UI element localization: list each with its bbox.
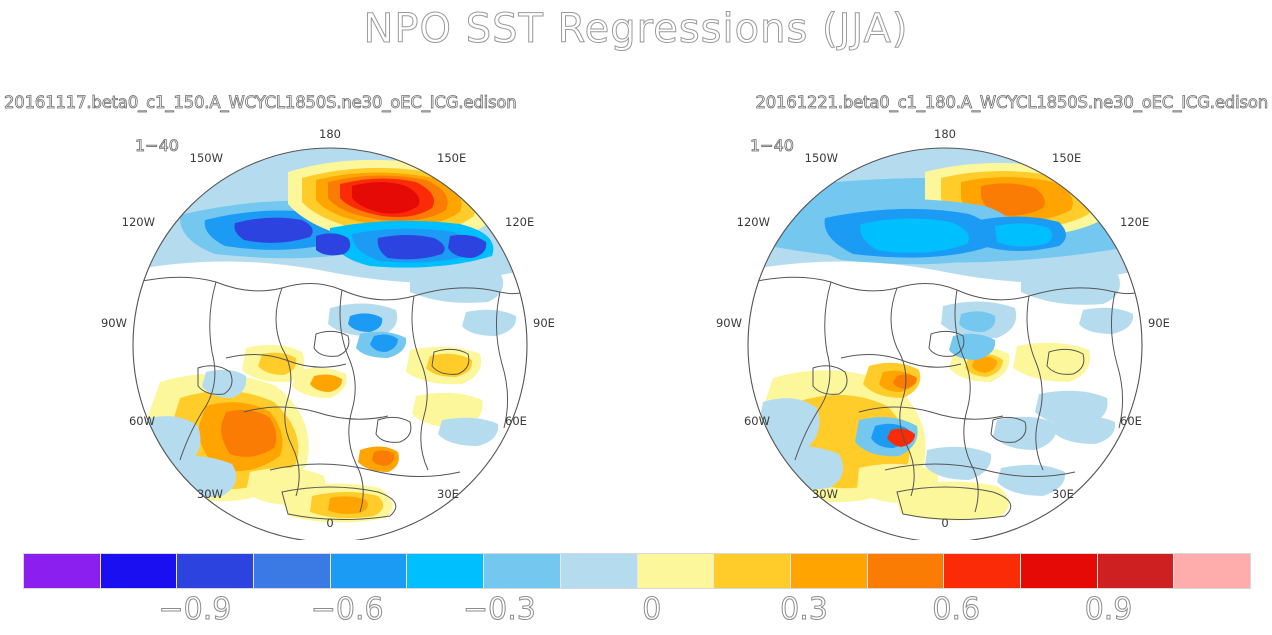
sst-field-right [748, 148, 1142, 540]
lon-label-0-right: 0 [941, 516, 948, 530]
lon-label-60E-left: 60E [505, 414, 527, 428]
polar-map-right[interactable]: 180 150E 120E 90E 60E 30E 0 30W 60W 90W … [645, 120, 1245, 540]
colorbar-segment[interactable] [944, 554, 1021, 588]
lon-label-90E-right: 90E [1148, 316, 1170, 330]
lon-label-120E-right: 120E [1120, 215, 1149, 229]
polar-map-left[interactable]: 180 150E 120E 90E 60E 30E 0 30W 60W 90W … [30, 120, 630, 540]
colorbar-tick-label: −0.6 [311, 592, 384, 627]
lon-label-30E-right: 30E [1052, 487, 1074, 501]
sst-field-left [133, 148, 527, 540]
subtitle-row: 20161117.beta0_c1_150.A_WCYCL1850S.ne30_… [0, 93, 1272, 112]
colorbar-segment[interactable] [24, 554, 101, 588]
colorbar-segment[interactable] [638, 554, 715, 588]
colorbar[interactable] [23, 553, 1251, 589]
colorbar-segment[interactable] [1021, 554, 1098, 588]
colorbar-tick-label: 0 [642, 592, 661, 627]
colorbar-segment[interactable] [331, 554, 408, 588]
lon-label-150E-left: 150E [437, 151, 466, 165]
colorbar-segment[interactable] [868, 554, 945, 588]
lon-label-120W-left: 120W [122, 215, 155, 229]
lon-label-150W-left: 150W [190, 151, 223, 165]
lon-label-90W-left: 90W [101, 316, 127, 330]
colorbar-tick-label: −0.9 [158, 592, 231, 627]
colorbar-segment[interactable] [101, 554, 178, 588]
map-panel-right[interactable]: 1−40 [645, 120, 1245, 540]
lon-label-60W-right: 60W [744, 414, 770, 428]
colorbar-segment[interactable] [484, 554, 561, 588]
colorbar-segment[interactable] [1174, 554, 1250, 588]
case-label-left: 20161117.beta0_c1_150.A_WCYCL1850S.ne30_… [4, 93, 517, 112]
lon-label-150W-right: 150W [805, 151, 838, 165]
lon-label-30E-left: 30E [437, 487, 459, 501]
colorbar-segment[interactable] [561, 554, 638, 588]
lon-label-30W-left: 30W [197, 487, 223, 501]
colorbar-tick-label: −0.3 [463, 592, 536, 627]
colorbar-tick-labels: −0.9−0.6−0.300.30.60.9 [23, 592, 1251, 634]
lon-label-30W-right: 30W [812, 487, 838, 501]
case-label-right: 20161221.beta0_c1_180.A_WCYCL1850S.ne30_… [755, 93, 1268, 112]
lon-label-180-right: 180 [934, 127, 956, 141]
lon-label-90E-left: 90E [533, 316, 555, 330]
lon-label-90W-right: 90W [716, 316, 742, 330]
lon-label-120W-right: 120W [737, 215, 770, 229]
colorbar-segment[interactable] [791, 554, 868, 588]
lon-label-0-left: 0 [326, 516, 333, 530]
lon-label-150E-right: 150E [1052, 151, 1081, 165]
map-panel-left[interactable]: 1−40 [30, 120, 630, 540]
colorbar-tick-label: 0.9 [1085, 592, 1133, 627]
colorbar-segment[interactable] [177, 554, 254, 588]
lon-label-60E-right: 60E [1120, 414, 1142, 428]
lon-label-180-left: 180 [319, 127, 341, 141]
lon-label-120E-left: 120E [505, 215, 534, 229]
colorbar-tick-label: 0.6 [932, 592, 980, 627]
colorbar-segment[interactable] [407, 554, 484, 588]
colorbar-segment[interactable] [714, 554, 791, 588]
colorbar-segment[interactable] [1098, 554, 1175, 588]
lon-label-60W-left: 60W [129, 414, 155, 428]
page-title: NPO SST Regressions (JJA) [0, 6, 1272, 52]
colorbar-tick-label: 0.3 [780, 592, 828, 627]
colorbar-segment[interactable] [254, 554, 331, 588]
